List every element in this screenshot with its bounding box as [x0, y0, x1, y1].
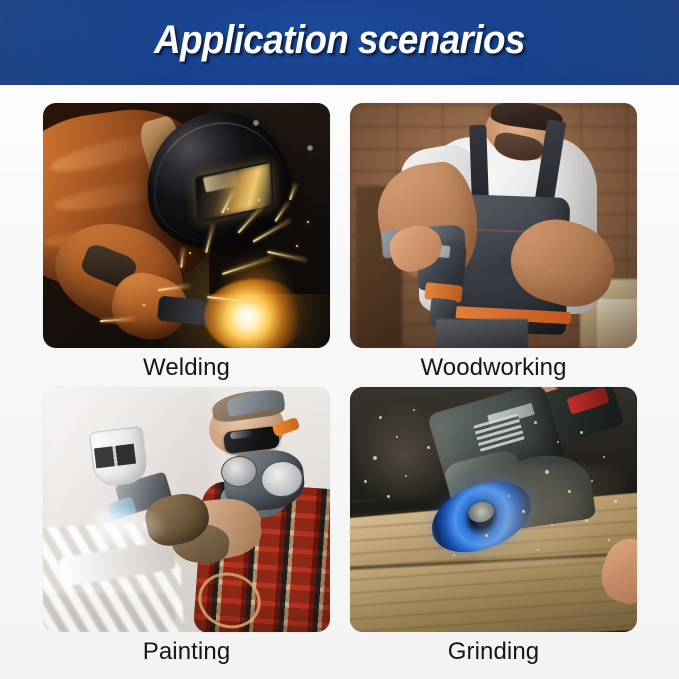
dust-particle — [522, 510, 525, 513]
dust-particle — [373, 456, 377, 460]
scenario-card-woodworking[interactable]: Woodworking — [350, 103, 637, 387]
dust-particle — [580, 431, 583, 434]
dust-particle — [557, 441, 559, 443]
grinding-image[interactable] — [350, 387, 637, 632]
dust-particle — [485, 534, 488, 537]
painting-image[interactable] — [43, 387, 330, 632]
dust-cloud-left — [350, 402, 459, 500]
dust-particle — [603, 456, 605, 458]
weld-arc-flare — [204, 279, 307, 348]
woodworking-image[interactable] — [350, 103, 637, 348]
dust-particle — [508, 495, 510, 497]
scenario-card-welding[interactable]: Welding — [43, 103, 330, 387]
scenario-card-grinding[interactable]: Grinding — [350, 387, 637, 671]
application-scenarios-page: Application scenarios — [0, 0, 679, 679]
paint-mist — [95, 510, 170, 554]
scenario-card-painting[interactable]: Painting — [43, 387, 330, 671]
dust-particle — [568, 490, 571, 493]
header-banner: Application scenarios — [0, 0, 679, 85]
scenario-label-painting: Painting — [43, 632, 330, 671]
dust-particle — [537, 549, 539, 551]
page-title: Application scenarios — [27, 0, 652, 85]
scenario-label-woodworking: Woodworking — [350, 348, 637, 387]
dust-particle — [396, 436, 398, 438]
scenario-label-welding: Welding — [43, 348, 330, 387]
dust-particle — [405, 475, 407, 477]
spark-dot — [258, 199, 260, 201]
helmet-bolt — [307, 145, 313, 151]
spark-dot — [307, 221, 309, 223]
dust-particle — [614, 500, 617, 503]
welding-image[interactable] — [43, 103, 330, 348]
scenario-label-grinding: Grinding — [350, 632, 637, 671]
dust-cloud-right — [476, 465, 625, 568]
workpiece — [436, 319, 528, 348]
spark-dot — [296, 245, 298, 247]
helmet-bolt — [253, 120, 259, 126]
scenario-gallery: Welding — [43, 103, 637, 671]
